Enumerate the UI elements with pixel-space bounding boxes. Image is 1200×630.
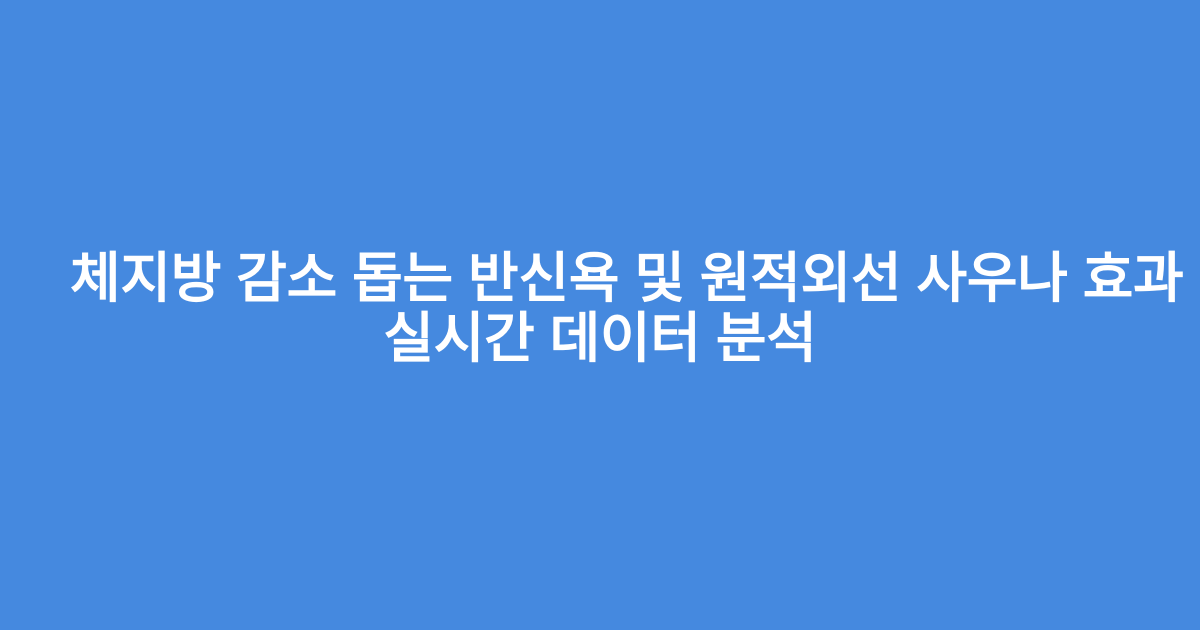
share-card-canvas: 체지방 감소 돕는 반신욕 및 원적외선 사우나 효과 실시간 데이터 분석 [0, 0, 1200, 630]
headline-line-1: 체지방 감소 돕는 반신욕 및 원적외선 사우나 효과 [70, 248, 1130, 308]
headline-line-2: 실시간 데이터 분석 [70, 308, 1130, 368]
page-title: 체지방 감소 돕는 반신욕 및 원적외선 사우나 효과 실시간 데이터 분석 [70, 248, 1130, 368]
headline-block: 체지방 감소 돕는 반신욕 및 원적외선 사우나 효과 실시간 데이터 분석 [50, 248, 1150, 368]
